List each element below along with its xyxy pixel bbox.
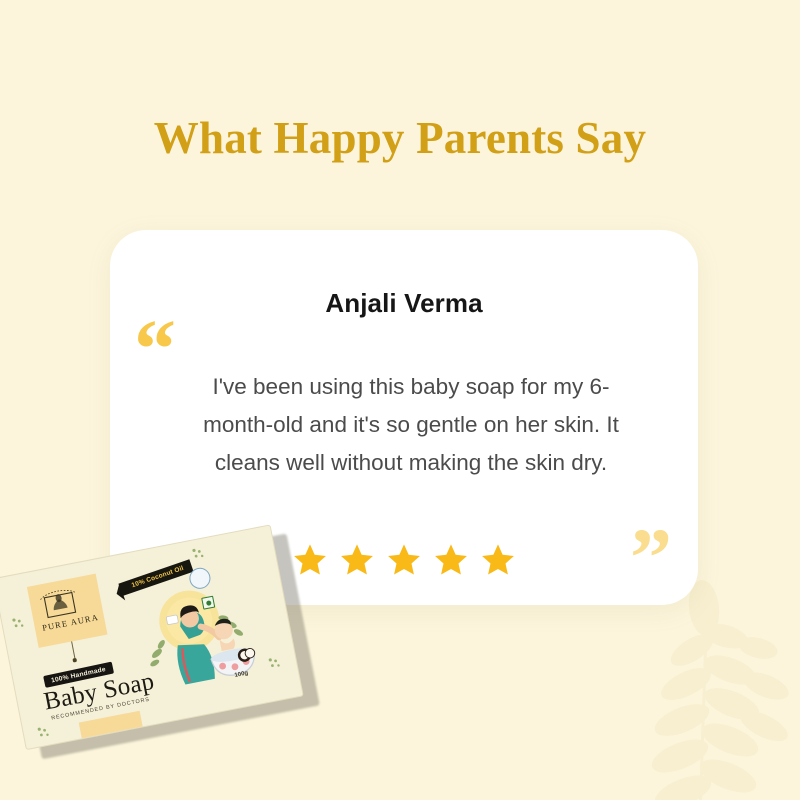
testimonial-page: What Happy Parents Say Anjali Verma “ I'… <box>0 0 800 800</box>
star-icon-5[interactable] <box>480 542 516 578</box>
page-title: What Happy Parents Say <box>0 112 800 164</box>
corner-motif-icon <box>35 723 54 742</box>
corner-motif-icon <box>189 544 208 563</box>
product-package: PURE AURA 10% Coconut Oil <box>0 521 323 765</box>
brand-dot <box>72 658 76 662</box>
star-icon-3[interactable] <box>386 542 422 578</box>
star-icon-4[interactable] <box>433 542 469 578</box>
star-icon-1[interactable] <box>292 542 328 578</box>
quote-open-icon: “ <box>134 308 176 392</box>
star-icon-2[interactable] <box>339 542 375 578</box>
review-text: I've been using this baby soap for my 6-… <box>194 368 628 482</box>
corner-motif-icon <box>266 654 285 673</box>
quote-close-icon: ” <box>630 517 672 601</box>
vegetarian-mark-icon <box>201 596 215 610</box>
corner-motif-icon <box>9 614 28 633</box>
reviewer-name: Anjali Verma <box>110 288 698 319</box>
coconut-icon <box>235 644 257 666</box>
